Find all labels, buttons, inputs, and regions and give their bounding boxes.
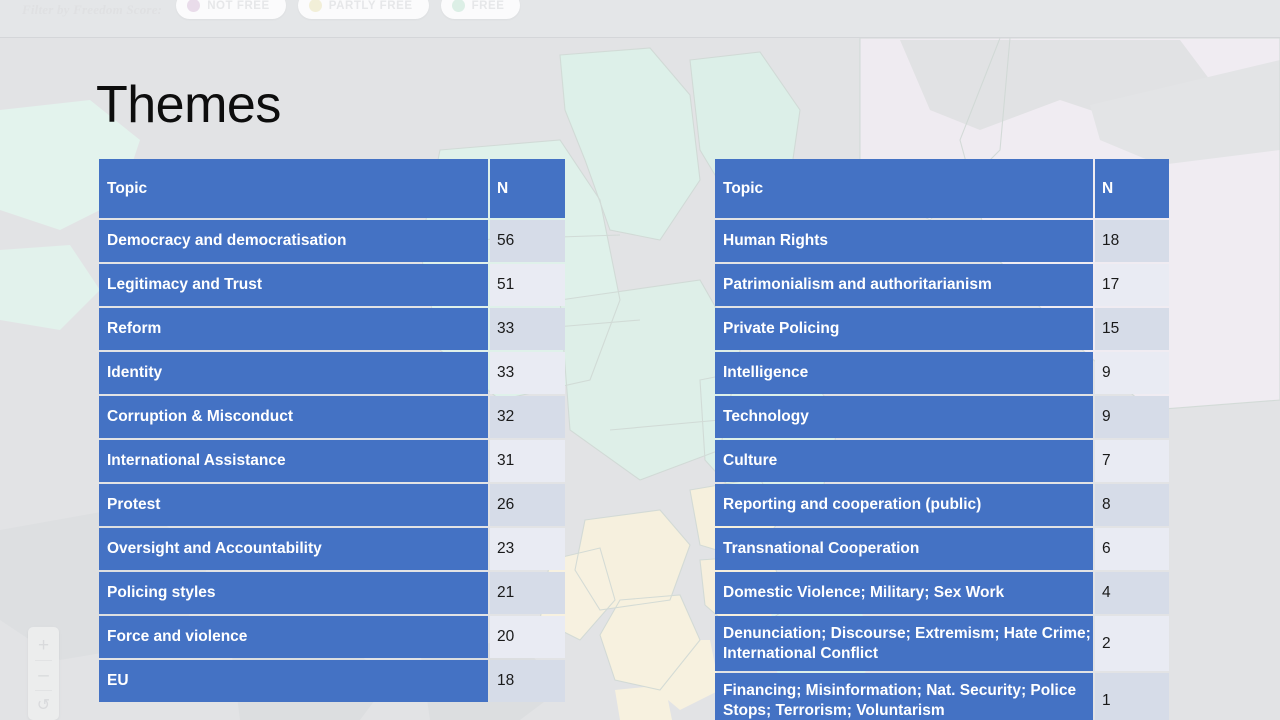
table-row[interactable]: Culture 7	[715, 440, 1169, 482]
cell-n: 32	[490, 396, 565, 438]
table-row[interactable]: Private Policing 15	[715, 308, 1169, 350]
table-row[interactable]: Reporting and cooperation (public) 8	[715, 484, 1169, 526]
table-row[interactable]: Democracy and democratisation 56	[99, 220, 565, 262]
zoom-in-button[interactable]: +	[28, 631, 59, 660]
cell-topic: EU	[99, 660, 488, 702]
cell-topic: Policing styles	[99, 572, 488, 614]
table-row[interactable]: Transnational Cooperation 6	[715, 528, 1169, 570]
filter-pill-free[interactable]: FREE	[441, 0, 521, 19]
reset-view-icon[interactable]: ↺	[28, 691, 59, 720]
table-row[interactable]: Identity 33	[99, 352, 565, 394]
table-row[interactable]: Oversight and Accountability 23	[99, 528, 565, 570]
zoom-out-button[interactable]: –	[28, 661, 59, 690]
cell-n: 18	[490, 660, 565, 702]
cell-topic: Human Rights	[715, 220, 1093, 262]
cell-topic: Reform	[99, 308, 488, 350]
circle-icon	[452, 0, 465, 12]
cell-n: 7	[1095, 440, 1169, 482]
cell-topic: Democracy and democratisation	[99, 220, 488, 262]
circle-icon	[187, 0, 200, 12]
slide-canvas: Filter by Freedom Score: NOT FREE PARTLY…	[0, 0, 1280, 720]
table-row[interactable]: Legitimacy and Trust 51	[99, 264, 565, 306]
cell-n: 2	[1095, 616, 1169, 671]
table-row[interactable]: Domestic Violence; Military; Sex Work 4	[715, 572, 1169, 614]
cell-topic: Oversight and Accountability	[99, 528, 488, 570]
cell-topic: Reporting and cooperation (public)	[715, 484, 1093, 526]
cell-n: 8	[1095, 484, 1169, 526]
table-row[interactable]: Intelligence 9	[715, 352, 1169, 394]
filter-pill-label: NOT FREE	[207, 0, 270, 12]
cell-n: 6	[1095, 528, 1169, 570]
filter-pill-label: PARTLY FREE	[329, 0, 413, 12]
cell-topic: Denunciation; Discourse; Extremism; Hate…	[715, 616, 1093, 671]
cell-n: 4	[1095, 572, 1169, 614]
cell-topic: Intelligence	[715, 352, 1093, 394]
cell-n: 1	[1095, 673, 1169, 720]
cell-topic-text: Denunciation; Discourse; Extremism; Hate…	[723, 624, 1093, 664]
cell-n: 15	[1095, 308, 1169, 350]
freedom-score-filter-bar: Filter by Freedom Score: NOT FREE PARTLY…	[0, 0, 1280, 38]
table-row[interactable]: Technology 9	[715, 396, 1169, 438]
filter-pill-partly-free[interactable]: PARTLY FREE	[298, 0, 429, 19]
column-header-topic: Topic	[99, 159, 488, 218]
table-row[interactable]: Patrimonialism and authoritarianism 17	[715, 264, 1169, 306]
cell-topic: Protest	[99, 484, 488, 526]
cell-n: 31	[490, 440, 565, 482]
filter-pill-group: NOT FREE PARTLY FREE FREE	[176, 0, 520, 19]
cell-topic: Culture	[715, 440, 1093, 482]
filter-pill-not-free[interactable]: NOT FREE	[176, 0, 286, 19]
cell-n: 18	[1095, 220, 1169, 262]
table-row[interactable]: Denunciation; Discourse; Extremism; Hate…	[715, 616, 1169, 671]
cell-topic: Patrimonialism and authoritarianism	[715, 264, 1093, 306]
cell-topic: Legitimacy and Trust	[99, 264, 488, 306]
cell-topic: Technology	[715, 396, 1093, 438]
table-row[interactable]: International Assistance 31	[99, 440, 565, 482]
themes-table-left: Topic N Democracy and democratisation 56…	[99, 159, 565, 702]
table-row[interactable]: Protest 26	[99, 484, 565, 526]
cell-n: 9	[1095, 352, 1169, 394]
table-row[interactable]: Human Rights 18	[715, 220, 1169, 262]
cell-n: 20	[490, 616, 565, 658]
table-row[interactable]: EU 18	[99, 660, 565, 702]
cell-n: 9	[1095, 396, 1169, 438]
cell-n: 26	[490, 484, 565, 526]
cell-n: 56	[490, 220, 565, 262]
filter-pill-label: FREE	[472, 0, 505, 12]
table-row[interactable]: Corruption & Misconduct 32	[99, 396, 565, 438]
cell-n: 21	[490, 572, 565, 614]
table-row[interactable]: Reform 33	[99, 308, 565, 350]
cell-topic: International Assistance	[99, 440, 488, 482]
table-header-row: Topic N	[99, 159, 565, 218]
cell-n: 17	[1095, 264, 1169, 306]
cell-topic: Domestic Violence; Military; Sex Work	[715, 572, 1093, 614]
cell-n: 51	[490, 264, 565, 306]
column-header-topic: Topic	[715, 159, 1093, 218]
table-row[interactable]: Financing; Misinformation; Nat. Security…	[715, 673, 1169, 720]
column-header-n: N	[490, 159, 565, 218]
cell-n: 23	[490, 528, 565, 570]
circle-icon	[309, 0, 322, 12]
cell-topic: Transnational Cooperation	[715, 528, 1093, 570]
map-zoom-control: + – ↺	[28, 627, 59, 720]
cell-topic: Force and violence	[99, 616, 488, 658]
table-header-row: Topic N	[715, 159, 1169, 218]
table-row[interactable]: Force and violence 20	[99, 616, 565, 658]
cell-topic: Corruption & Misconduct	[99, 396, 488, 438]
cell-topic: Identity	[99, 352, 488, 394]
themes-table-right: Topic N Human Rights 18 Patrimonialism a…	[715, 159, 1169, 720]
column-header-n: N	[1095, 159, 1169, 218]
cell-topic: Private Policing	[715, 308, 1093, 350]
table-row[interactable]: Policing styles 21	[99, 572, 565, 614]
filter-bar-label: Filter by Freedom Score:	[22, 0, 162, 19]
page-title: Themes	[96, 74, 281, 136]
cell-topic: Financing; Misinformation; Nat. Security…	[715, 673, 1093, 720]
cell-topic-text: Financing; Misinformation; Nat. Security…	[723, 681, 1093, 720]
cell-n: 33	[490, 352, 565, 394]
cell-n: 33	[490, 308, 565, 350]
